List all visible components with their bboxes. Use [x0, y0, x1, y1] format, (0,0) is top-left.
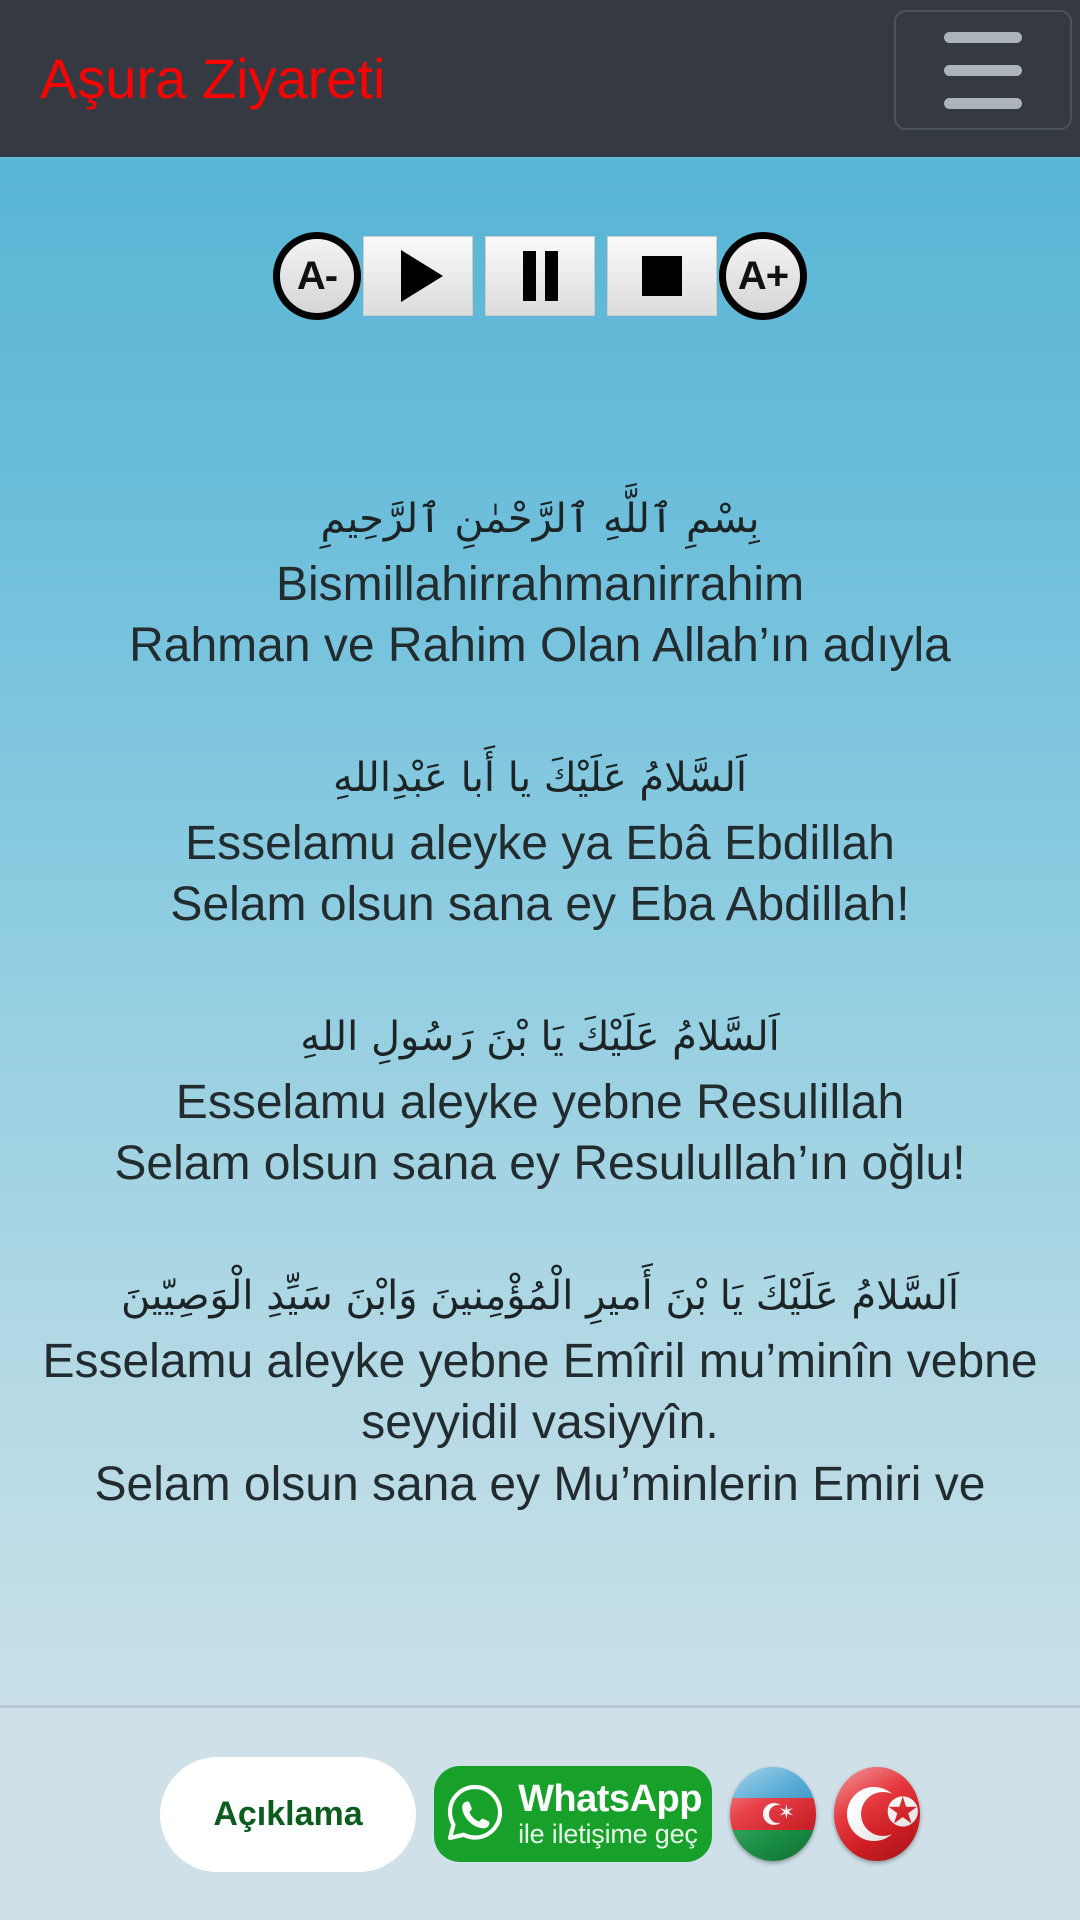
- content-scroll-area[interactable]: A- A+ بِسْمِ ٱللَّهِ ٱلرَّحْمٰنِ ٱلرَّحِ…: [0, 160, 1080, 1705]
- transliteration-line: Esselamu aleyke yebne Resulillah: [18, 1072, 1062, 1133]
- hamburger-icon-bar-3: [944, 98, 1022, 109]
- font-decrease-button[interactable]: A-: [273, 232, 361, 320]
- whatsapp-contact-button[interactable]: WhatsApp ile iletişime geç: [434, 1766, 712, 1862]
- translation-line: Rahman ve Rahim Olan Allah’ın adıyla: [18, 615, 1062, 676]
- transliteration-line: Esselamu aleyke yebne Emîril mu’minîn ve…: [18, 1331, 1062, 1454]
- transliteration-line: Esselamu aleyke ya Ebâ Ebdillah: [18, 813, 1062, 874]
- hamburger-icon-bar-1: [944, 32, 1022, 43]
- whatsapp-label-group: WhatsApp ile iletişime geç: [518, 1780, 702, 1848]
- font-increase-button[interactable]: A+: [719, 232, 807, 320]
- transliteration-line: Bismillahirrahmanirrahim: [18, 554, 1062, 615]
- whatsapp-icon: [444, 1781, 506, 1848]
- translation-line: Selam olsun sana ey Resulullah’ın oğlu!: [18, 1133, 1062, 1194]
- page-title: Aşura Ziyareti: [40, 51, 385, 107]
- aciklama-button[interactable]: Açıklama: [160, 1757, 416, 1872]
- whatsapp-subtitle-label: ile iletişime geç: [518, 1820, 698, 1848]
- arabic-line: اَلسَّلامُ عَلَيْكَ يَا بْنَ أَميرِ الْم…: [18, 1267, 1062, 1325]
- arabic-line: اَلسَّلامُ عَلَيْكَ يا أَبا عَبْدِاللهِ: [18, 749, 1062, 807]
- hamburger-menu-button[interactable]: [894, 10, 1072, 130]
- font-decrease-label: A-: [297, 254, 337, 299]
- prayer-stanza: بِسْمِ ٱللَّهِ ٱلرَّحْمٰنِ ٱلرَّحِيمِ Bi…: [18, 490, 1062, 677]
- stop-icon: [642, 256, 682, 296]
- app-header: Aşura Ziyareti: [0, 0, 1080, 160]
- font-increase-label: A+: [738, 254, 788, 299]
- pause-button[interactable]: [485, 236, 595, 316]
- turkey-flag-icon[interactable]: ✪: [834, 1767, 920, 1861]
- aciklama-label: Açıklama: [213, 1795, 362, 1834]
- translation-line: Selam olsun sana ey Mu’minlerin Emiri ve: [18, 1454, 1062, 1515]
- translation-line: Selam olsun sana ey Eba Abdillah!: [18, 874, 1062, 935]
- arabic-line: بِسْمِ ٱللَّهِ ٱلرَّحْمٰنِ ٱلرَّحِيمِ: [18, 490, 1062, 548]
- stop-button[interactable]: [607, 236, 717, 316]
- hamburger-icon-bar-2: [944, 65, 1022, 76]
- prayer-stanza: اَلسَّلامُ عَلَيْكَ يَا بْنَ أَميرِ الْم…: [18, 1267, 1062, 1515]
- azerbaijan-flag-icon[interactable]: ✶: [730, 1767, 816, 1861]
- flag-gloss-overlay: [834, 1767, 920, 1861]
- prayer-stanza: اَلسَّلامُ عَلَيْكَ يا أَبا عَبْدِاللهِ …: [18, 749, 1062, 936]
- audio-controls-toolbar: A- A+: [0, 232, 1080, 320]
- prayer-text-body: بِسْمِ ٱللَّهِ ٱلرَّحْمٰنِ ٱلرَّحِيمِ Bi…: [0, 490, 1080, 1705]
- pause-icon: [523, 251, 558, 301]
- prayer-stanza: اَلسَّلامُ عَلَيْكَ يَا بْنَ رَسُولِ الل…: [18, 1008, 1062, 1195]
- bottom-action-bar: Açıklama WhatsApp ile iletişime geç ✶: [0, 1705, 1080, 1920]
- play-icon: [401, 250, 443, 302]
- app-root: Aşura Ziyareti A- A+: [0, 0, 1080, 1920]
- flag-gloss-overlay: [730, 1767, 816, 1861]
- arabic-line: اَلسَّلامُ عَلَيْكَ يَا بْنَ رَسُولِ الل…: [18, 1008, 1062, 1066]
- play-button[interactable]: [363, 236, 473, 316]
- whatsapp-brand-label: WhatsApp: [518, 1780, 702, 1820]
